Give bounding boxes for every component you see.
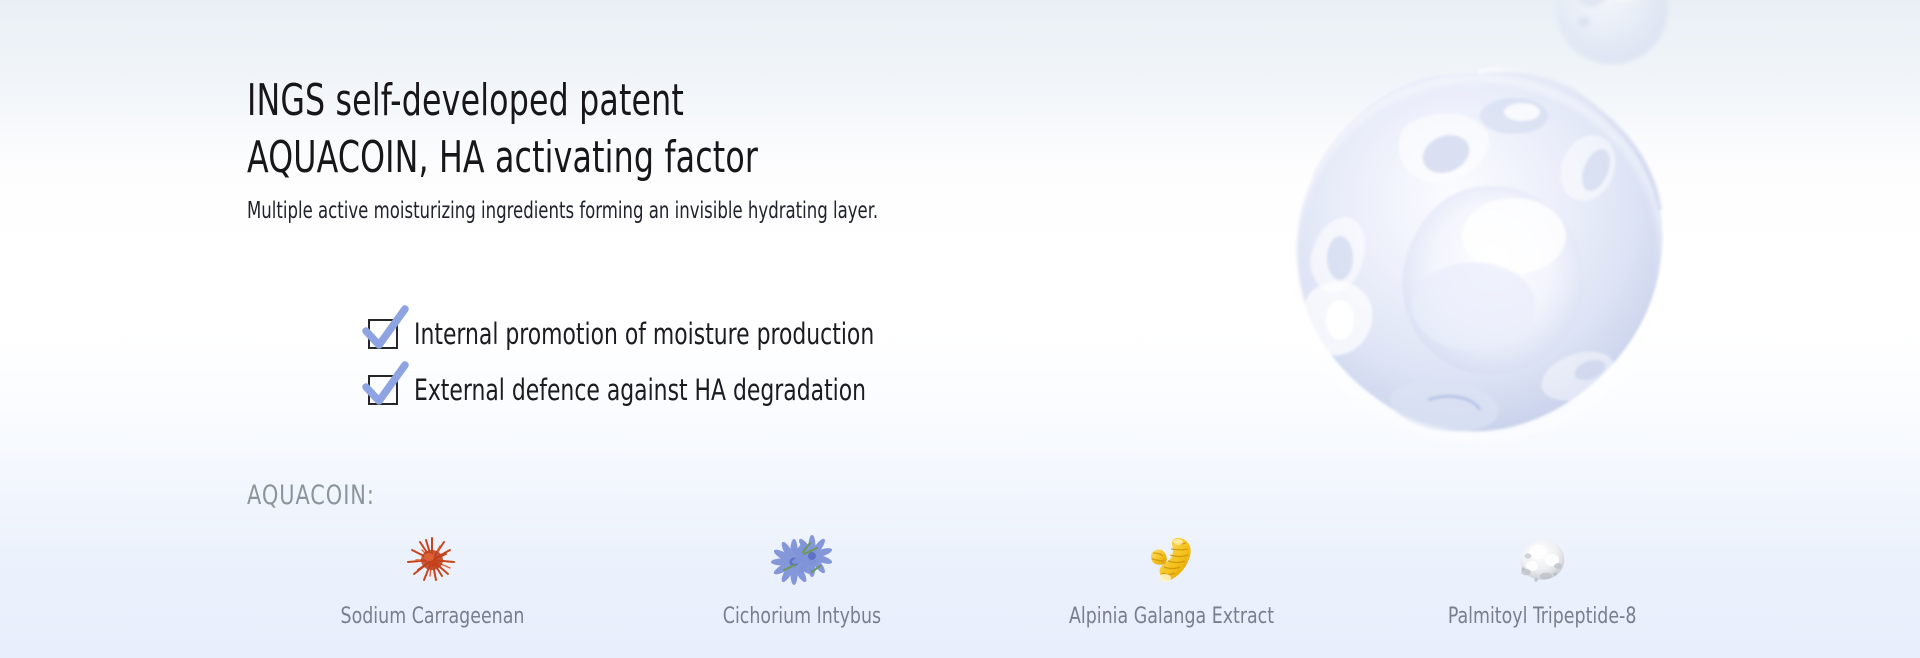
checkmark-icon [359, 304, 411, 356]
ingredient-item: Sodium Carrageenan [247, 530, 617, 629]
red-seaweed-icon [400, 530, 464, 588]
banner-content: INGS self-developed patent AQUACOIN, HA … [0, 0, 1920, 658]
yellow-root-icon [1140, 530, 1204, 588]
checklist-item-label: External defence against HA degradation [414, 373, 866, 407]
white-powder-icon [1510, 530, 1574, 588]
list-item: External defence against HA degradation [368, 362, 962, 418]
checkbox-checked-icon [368, 319, 398, 349]
subtitle: Multiple active moisturizing ingredients… [247, 196, 878, 226]
ingredient-list: Sodium Carrageenan [247, 530, 1727, 629]
list-item: Internal promotion of moisture productio… [368, 306, 962, 362]
blue-flower-icon [770, 530, 834, 588]
feature-checklist: Internal promotion of moisture productio… [368, 306, 962, 418]
page-title: INGS self-developed patent AQUACOIN, HA … [247, 72, 1047, 186]
checkbox-checked-icon [368, 375, 398, 405]
checklist-item-label: Internal promotion of moisture productio… [414, 317, 874, 351]
ingredient-name: Sodium Carrageenan [340, 604, 524, 629]
ingredient-name: Palmitoyl Tripeptide-8 [1448, 604, 1637, 629]
checkmark-icon [359, 360, 411, 412]
ingredient-item: Palmitoyl Tripeptide-8 [1357, 530, 1727, 629]
ingredient-item: Alpinia Galanga Extract [987, 530, 1357, 629]
ingredient-item: Cichorium Intybus [617, 530, 987, 629]
ingredient-name: Alpinia Galanga Extract [1069, 604, 1274, 629]
ingredient-name: Cichorium Intybus [723, 604, 881, 629]
aquacoin-section-label: AQUACOIN: [247, 480, 375, 511]
